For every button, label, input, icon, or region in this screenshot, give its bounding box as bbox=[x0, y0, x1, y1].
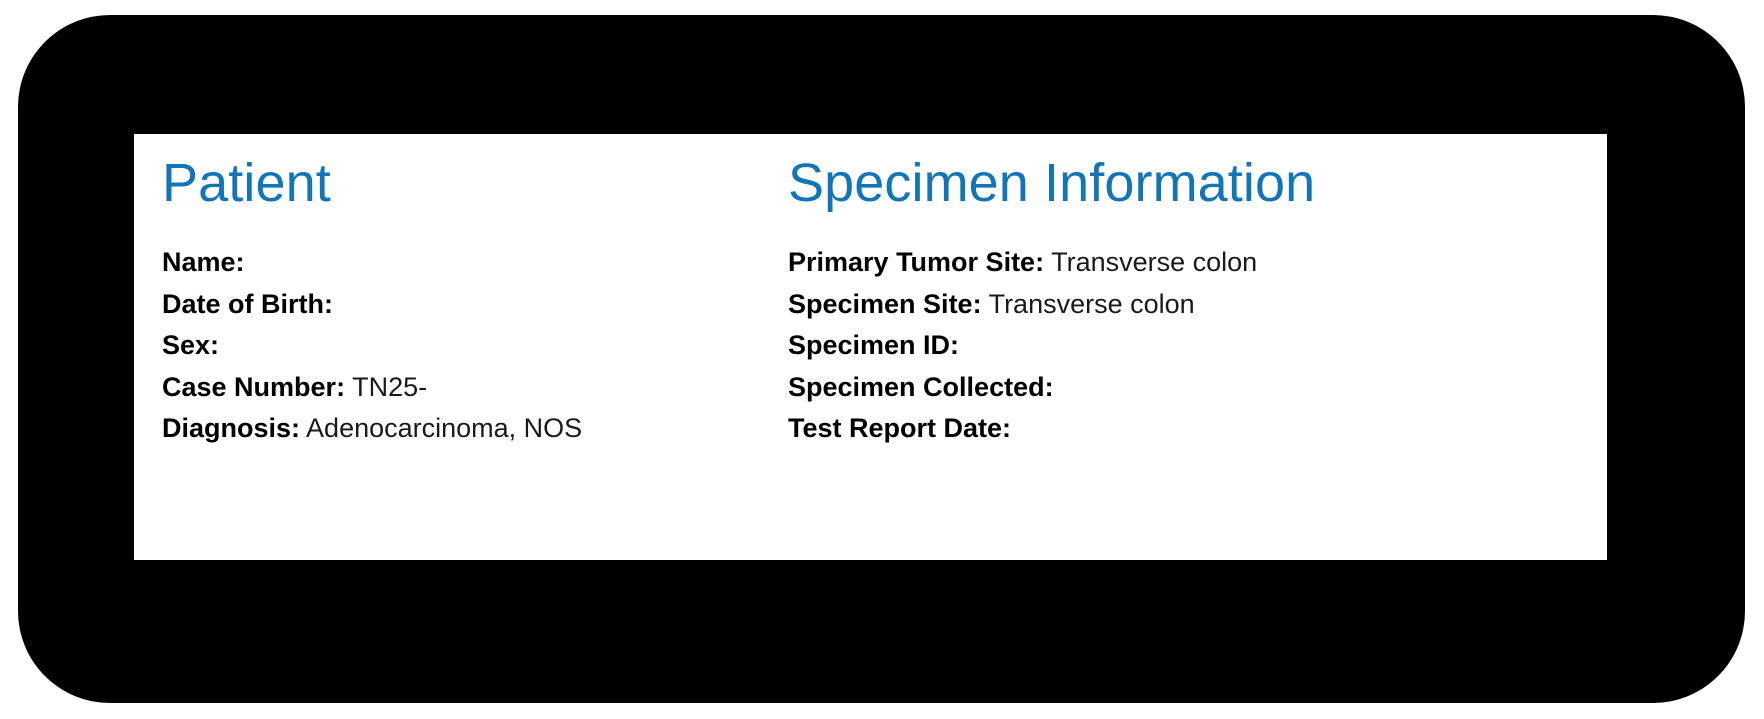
field-row-test-report-date: Test Report Date: bbox=[788, 408, 1588, 450]
specimen-section-title: Specimen Information bbox=[788, 156, 1315, 210]
field-row-diagnosis: Diagnosis:Adenocarcinoma, NOS bbox=[162, 408, 862, 450]
field-row-primary-tumor-site: Primary Tumor Site:Transverse colon bbox=[788, 242, 1588, 284]
field-value-diagnosis: Adenocarcinoma, NOS bbox=[300, 413, 582, 443]
field-label-specimen-collected: Specimen Collected: bbox=[788, 372, 1054, 402]
patient-section-title: Patient bbox=[162, 156, 331, 210]
specimen-field-list: Primary Tumor Site:Transverse colon Spec… bbox=[788, 242, 1588, 450]
field-label-primary-tumor-site: Primary Tumor Site: bbox=[788, 247, 1044, 277]
field-value-case-number: TN25- bbox=[345, 372, 427, 402]
field-label-specimen-id: Specimen ID: bbox=[788, 330, 959, 360]
field-row-specimen-site: Specimen Site:Transverse colon bbox=[788, 284, 1588, 326]
field-label-case-number: Case Number: bbox=[162, 372, 345, 402]
field-row-name: Name: bbox=[162, 242, 862, 284]
field-row-case-number: Case Number:TN25- bbox=[162, 367, 862, 409]
field-row-specimen-collected: Specimen Collected: bbox=[788, 367, 1588, 409]
field-row-sex: Sex: bbox=[162, 325, 862, 367]
field-row-date-of-birth: Date of Birth: bbox=[162, 284, 862, 326]
field-label-diagnosis: Diagnosis: bbox=[162, 413, 300, 443]
field-value-specimen-site: Transverse colon bbox=[982, 289, 1195, 319]
field-value-primary-tumor-site: Transverse colon bbox=[1044, 247, 1257, 277]
report-screenshot: Patient Name: Date of Birth: Sex: Case N… bbox=[0, 0, 1764, 719]
patient-field-list: Name: Date of Birth: Sex: Case Number:TN… bbox=[162, 242, 862, 450]
field-label-sex: Sex: bbox=[162, 330, 219, 360]
report-columns: Patient Name: Date of Birth: Sex: Case N… bbox=[134, 134, 1607, 560]
field-row-specimen-id: Specimen ID: bbox=[788, 325, 1588, 367]
report-sheet: Patient Name: Date of Birth: Sex: Case N… bbox=[134, 134, 1607, 560]
field-label-test-report-date: Test Report Date: bbox=[788, 413, 1011, 443]
field-label-name: Name: bbox=[162, 247, 245, 277]
field-label-specimen-site: Specimen Site: bbox=[788, 289, 982, 319]
field-label-date-of-birth: Date of Birth: bbox=[162, 289, 333, 319]
